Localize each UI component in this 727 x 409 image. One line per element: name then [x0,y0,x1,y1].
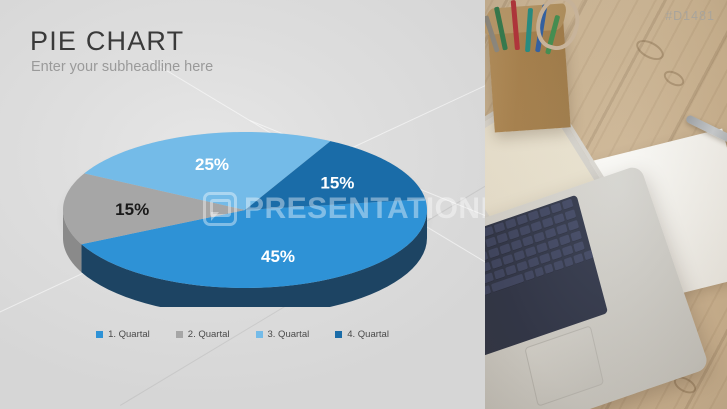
pie-data-label: 45% [261,247,295,266]
pie-data-label: 15% [115,200,149,219]
legend-label: 4. Quartal [347,330,389,340]
chart-legend: 1. Quartal2. Quartal3. Quartal4. Quartal [0,330,485,340]
legend-swatch-icon [176,331,183,338]
legend-swatch-icon [256,331,263,338]
legend-item[interactable]: 1. Quartal [96,330,150,340]
page-title: PIE CHART [30,28,184,55]
legend-swatch-icon [96,331,103,338]
legend-item[interactable]: 4. Quartal [335,330,389,340]
legend-swatch-icon [335,331,342,338]
legend-label: 3. Quartal [268,330,310,340]
slide-canvas: PIE CHART Enter your subheadline here 45… [0,0,727,409]
pie-data-label: 15% [320,173,354,192]
photo-vignette [485,0,727,409]
slide-content-panel: PIE CHART Enter your subheadline here 45… [0,0,485,409]
pie-chart[interactable]: 45%15%25%15% [40,92,450,307]
legend-item[interactable]: 3. Quartal [256,330,310,340]
page-subtitle: Enter your subheadline here [31,60,213,75]
legend-item[interactable]: 2. Quartal [176,330,230,340]
pie-chart-svg: 45%15%25%15% [40,92,450,307]
desk-photo: #D1481 [485,0,727,409]
legend-label: 1. Quartal [108,330,150,340]
legend-label: 2. Quartal [188,330,230,340]
pie-data-label: 25% [195,155,229,174]
document-id: #D1481 [665,10,715,23]
